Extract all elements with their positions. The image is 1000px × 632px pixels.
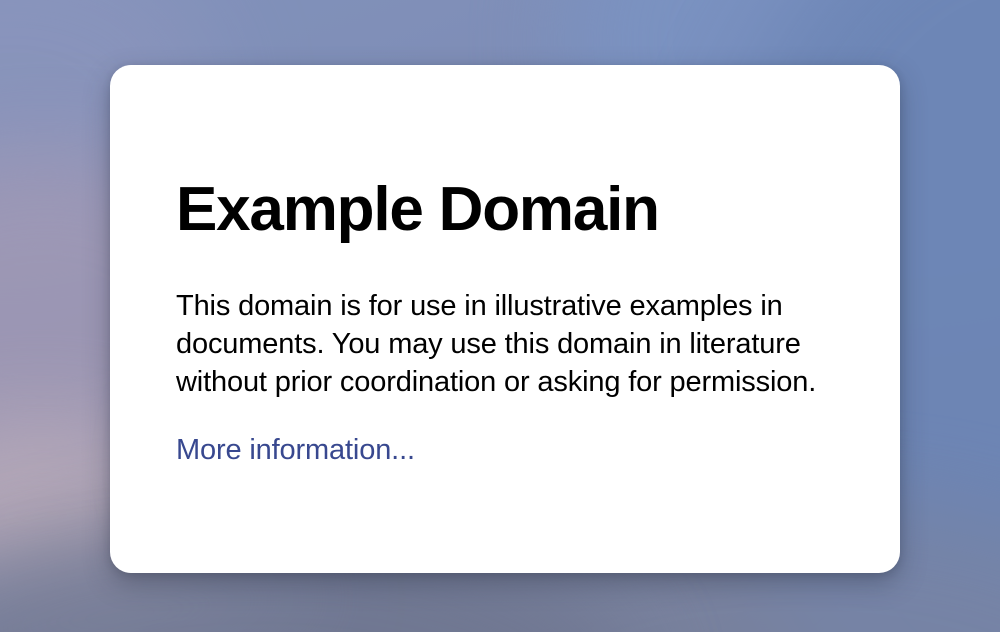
page-title: Example Domain: [176, 176, 836, 244]
page-description: This domain is for use in illustrative e…: [176, 244, 836, 401]
sky-cloud-streak: [0, 563, 332, 632]
more-information-link[interactable]: More information...: [176, 433, 415, 467]
page-card: Example Domain This domain is for use in…: [110, 65, 900, 573]
page-content: Example Domain This domain is for use in…: [176, 176, 836, 467]
